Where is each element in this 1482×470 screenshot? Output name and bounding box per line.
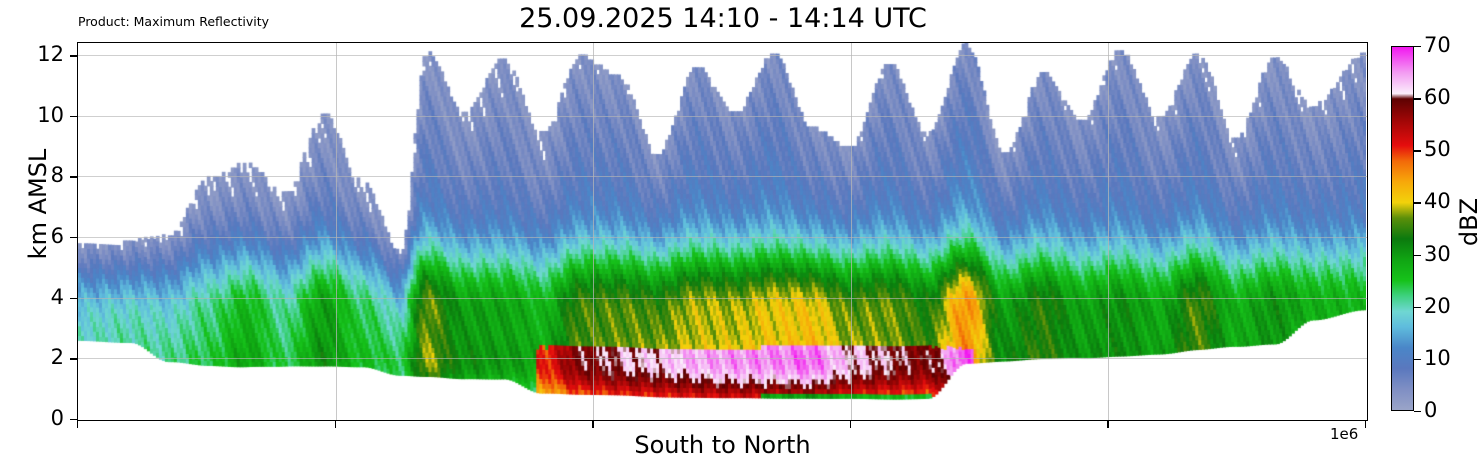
y-tick-label: 0	[51, 408, 64, 429]
colorbar-tick-label: 30	[1424, 244, 1451, 265]
y-tick-label: 2	[51, 347, 64, 368]
colorbar-tick-label: 50	[1424, 139, 1451, 160]
y-tick-label: 6	[51, 226, 64, 247]
product-annotation: Product: Maximum Reflectivity	[78, 14, 269, 29]
y-tick-label: 4	[51, 287, 64, 308]
x-tick-mark	[592, 421, 593, 428]
colorbar-tick-mark	[1414, 307, 1421, 308]
y-tick-mark	[70, 358, 77, 359]
y-tick-mark	[70, 419, 77, 420]
colorbar-label: dBZ	[1455, 162, 1482, 282]
y-tick-label: 12	[37, 44, 64, 65]
x-tick-mark	[1107, 421, 1108, 428]
gridline-vertical	[851, 43, 852, 420]
x-tick-mark	[1365, 421, 1366, 428]
y-tick-mark	[70, 116, 77, 117]
radar-cross-section-figure: 25.09.2025 14:10 - 14:14 UTC Product: Ma…	[0, 0, 1482, 470]
colorbar: 010203040506070	[1391, 46, 1414, 411]
colorbar-tick-label: 60	[1424, 87, 1451, 108]
y-tick-mark	[70, 55, 77, 56]
plot-axes	[77, 42, 1368, 421]
x-axis-offset-text: 1e6	[1330, 425, 1358, 443]
colorbar-tick-label: 40	[1424, 191, 1451, 212]
colorbar-tick-mark	[1414, 98, 1421, 99]
y-axis-label: km AMSL	[24, 94, 52, 314]
colorbar-tick-mark	[1414, 46, 1421, 47]
x-axis-label: South to North	[77, 431, 1368, 459]
colorbar-tick-label: 10	[1424, 348, 1451, 369]
x-tick-mark	[850, 421, 851, 428]
colorbar-gradient	[1391, 46, 1414, 411]
y-tick-mark	[70, 176, 77, 177]
x-tick-mark	[335, 421, 336, 428]
colorbar-tick-mark	[1414, 202, 1421, 203]
gridline-horizontal	[78, 237, 1367, 238]
colorbar-tick-label: 0	[1424, 400, 1437, 421]
colorbar-tick-label: 20	[1424, 296, 1451, 317]
figure-title: 25.09.2025 14:10 - 14:14 UTC	[77, 2, 1369, 36]
gridline-horizontal	[78, 358, 1367, 359]
y-tick-mark	[70, 237, 77, 238]
colorbar-tick-label: 70	[1424, 35, 1451, 56]
colorbar-tick-mark	[1414, 150, 1421, 151]
gridline-horizontal	[78, 55, 1367, 56]
colorbar-tick-mark	[1414, 411, 1421, 412]
gridline-horizontal	[78, 298, 1367, 299]
x-tick-mark	[77, 421, 78, 428]
gridline-vertical	[336, 43, 337, 420]
colorbar-tick-mark	[1414, 359, 1421, 360]
colorbar-tick-mark	[1414, 255, 1421, 256]
gridline-horizontal	[78, 176, 1367, 177]
y-tick-mark	[70, 298, 77, 299]
gridline-horizontal	[78, 116, 1367, 117]
gridline-vertical	[1108, 43, 1109, 420]
reflectivity-heatmap	[78, 43, 1366, 419]
gridline-vertical	[593, 43, 594, 420]
y-tick-label: 8	[51, 165, 64, 186]
